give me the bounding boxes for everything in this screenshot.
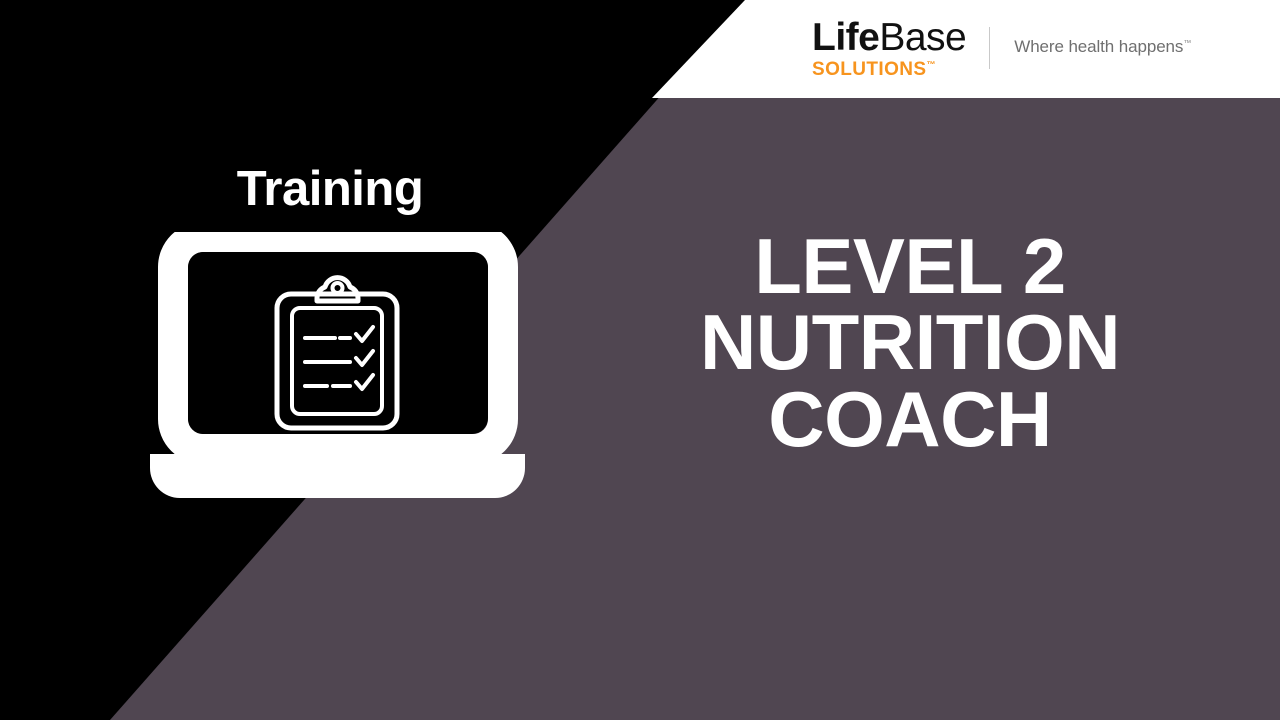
page-title: LEVEL 2 NUTRITION COACH (660, 228, 1160, 457)
brand-logo: LifeBase SOLUTIONS™ Where health happens… (812, 18, 1191, 79)
trademark-icon: ™ (926, 60, 935, 70)
logo-word-base: Base (879, 16, 966, 59)
logo-subtitle: SOLUTIONS™ (812, 60, 936, 79)
page-title-line-3: COACH (660, 381, 1160, 457)
logo-word-life: Life (812, 16, 879, 59)
logo-divider (989, 27, 990, 69)
brand-tagline: Where health happens™ (1014, 37, 1191, 57)
laptop-clipboard-checklist-icon (145, 232, 530, 502)
tagline-text: Where health happens (1014, 37, 1183, 56)
logo-subtitle-text: SOLUTIONS (812, 59, 926, 80)
tagline-trademark-icon: ™ (1183, 38, 1191, 47)
logo-text-block: LifeBase SOLUTIONS™ (812, 18, 966, 79)
page-title-line-1: LEVEL 2 (660, 228, 1160, 304)
page-title-line-2: NUTRITION (660, 304, 1160, 380)
slide-canvas: LifeBase SOLUTIONS™ Where health happens… (0, 0, 1280, 720)
training-label: Training (0, 165, 660, 214)
logo-wordmark: LifeBase (812, 18, 966, 59)
